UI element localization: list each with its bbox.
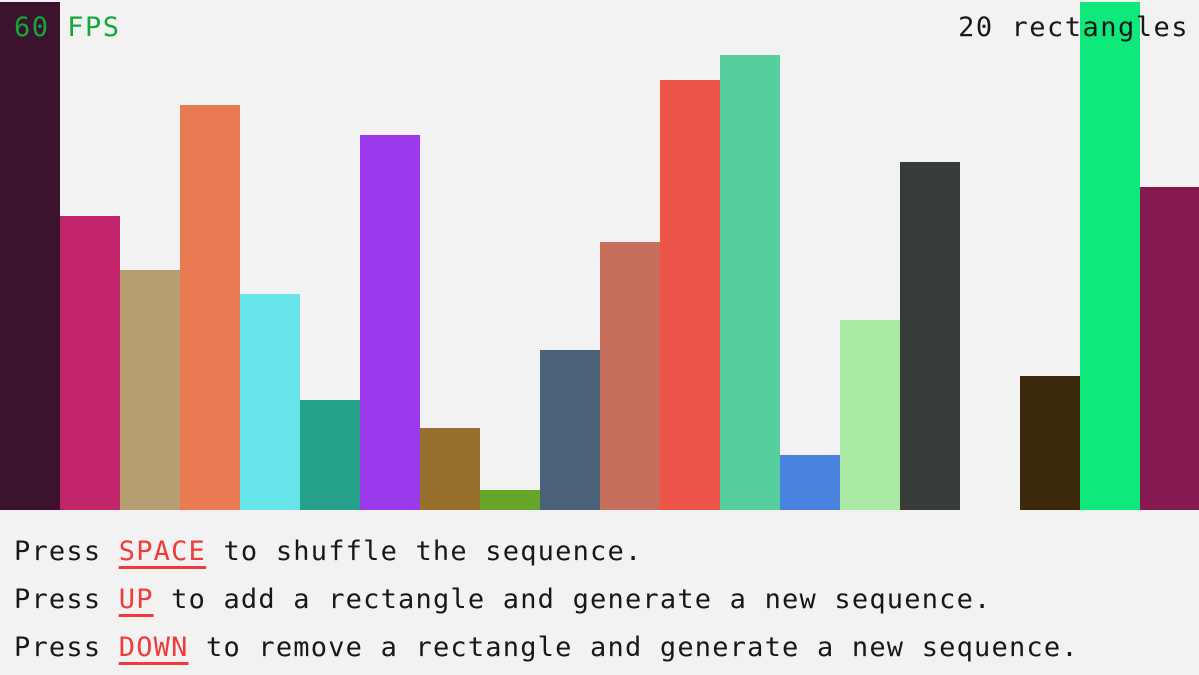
instruction-line-2: Press UP to add a rectangle and generate…	[14, 576, 1199, 624]
instruction-prefix: Press	[14, 536, 119, 567]
bar-13	[720, 55, 780, 510]
instruction-prefix: Press	[14, 632, 119, 663]
instruction-suffix: to add a rectangle and generate a new se…	[154, 584, 992, 615]
bar-3	[120, 270, 180, 510]
bar-7	[360, 135, 420, 510]
bar-8	[420, 428, 480, 510]
bar-15	[840, 320, 900, 510]
bar-4	[180, 105, 240, 510]
bar-12	[660, 80, 720, 510]
instruction-suffix: to remove a rectangle and generate a new…	[189, 632, 1079, 663]
bar-2	[60, 216, 120, 510]
bar-1	[0, 2, 60, 510]
instruction-prefix: Press	[14, 584, 119, 615]
app-root: 60 FPS 20 rectangles Press SPACE to shuf…	[0, 0, 1199, 675]
key-space[interactable]: SPACE	[119, 536, 206, 567]
fps-counter: 60 FPS	[14, 14, 121, 41]
bar-5	[240, 294, 300, 510]
key-down[interactable]: DOWN	[119, 632, 189, 663]
bar-10	[540, 350, 600, 510]
bar-14	[780, 455, 840, 510]
rectangle-chart	[0, 0, 1199, 510]
bar-16	[900, 162, 960, 510]
bar-9	[480, 490, 540, 510]
instruction-line-1: Press SPACE to shuffle the sequence.	[14, 528, 1199, 576]
key-up[interactable]: UP	[119, 584, 154, 615]
rectangle-count-label: 20 rectangles	[958, 14, 1189, 41]
bar-11	[600, 242, 660, 510]
instruction-line-3: Press DOWN to remove a rectangle and gen…	[14, 624, 1199, 672]
instruction-suffix: to shuffle the sequence.	[206, 536, 642, 567]
bar-19	[1080, 2, 1140, 510]
instructions-panel: Press SPACE to shuffle the sequence.Pres…	[0, 510, 1199, 675]
bar-20	[1140, 187, 1199, 510]
bar-6	[300, 400, 360, 510]
bar-18	[1020, 376, 1080, 510]
